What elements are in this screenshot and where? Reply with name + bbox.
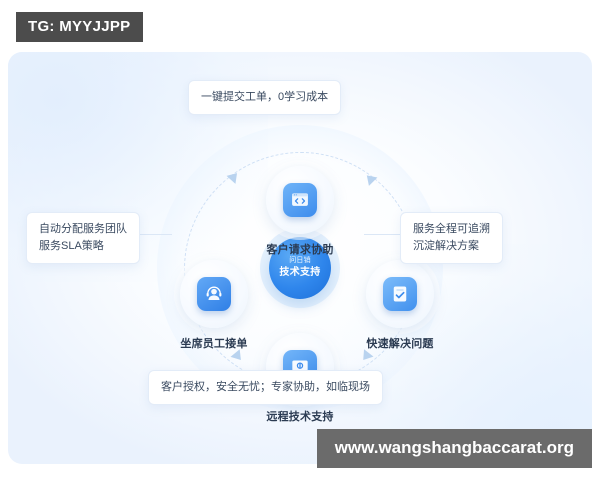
node-agent-ticket[interactable] (180, 260, 248, 328)
check-document-icon (383, 277, 417, 311)
connector-right (364, 234, 400, 235)
center-hub-title: 技术支持 (279, 267, 320, 280)
callout-right-line-2: 沉淀解决方案 (413, 238, 490, 255)
callout-bottom-line-1: 客户授权，安全无忧；专家协助，如临现场 (161, 379, 370, 396)
diagram-card: 问日销 技术支持 客户请求协助 坐席员工接单 (8, 52, 592, 464)
node-label-remote-support: 远程技术支持 (255, 408, 345, 424)
connector-left (136, 234, 172, 235)
callout-right: 服务全程可追溯 沉淀解决方案 (400, 212, 503, 264)
callout-bottom: 客户授权，安全无忧；专家协助，如临现场 (148, 370, 383, 405)
node-fast-resolution[interactable] (366, 260, 434, 328)
site-watermark: www.wangshangbaccarat.org (317, 429, 592, 468)
callout-top-line-1: 一键提交工单，0学习成本 (201, 89, 328, 106)
center-hub-subtitle: 问日销 (289, 257, 311, 266)
telegram-watermark: TG: MYYJJPP (16, 12, 143, 42)
code-window-icon (283, 183, 317, 217)
node-customer-request[interactable] (266, 166, 334, 234)
callout-top: 一键提交工单，0学习成本 (188, 80, 341, 115)
callout-right-line-1: 服务全程可追溯 (413, 221, 490, 238)
node-label-customer-request: 客户请求协助 (266, 241, 334, 257)
callout-left-line-2: 服务SLA策略 (39, 238, 127, 255)
node-label-agent-ticket: 坐席员工接单 (163, 335, 265, 351)
headset-agent-icon (197, 277, 231, 311)
callout-left: 自动分配服务团队 服务SLA策略 (26, 212, 140, 264)
node-label-fast-resolution: 快速解决问题 (349, 335, 451, 351)
callout-left-line-1: 自动分配服务团队 (39, 221, 127, 238)
